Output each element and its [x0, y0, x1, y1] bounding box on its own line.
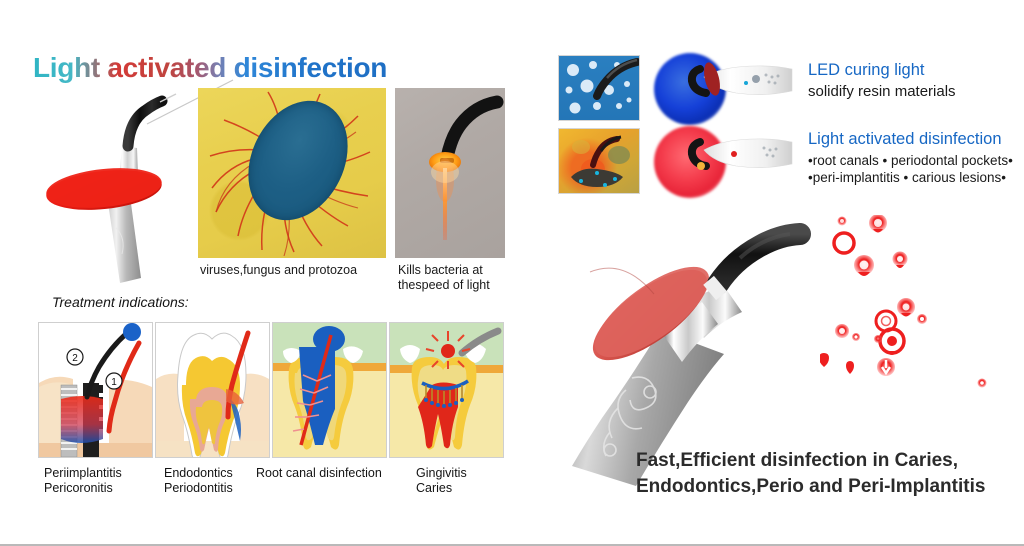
feature-subtitle: solidify resin materials	[808, 83, 956, 100]
label-line-2: Caries	[416, 481, 452, 495]
poster-canvas: Light activated disinfection	[0, 0, 1024, 544]
tagline-line-1: Fast,Efficient disinfection in Caries,	[636, 448, 1024, 474]
label-line-1: Root canal disinfection	[256, 466, 382, 480]
bullet-line-1: •root canals • periodontal pockets•	[808, 152, 1013, 169]
panel-gingivitis	[389, 322, 504, 458]
panel-label-row: Periimplantitis Pericoronitis Endodontic…	[38, 466, 518, 510]
label-line-1: Periimplantitis	[44, 466, 122, 480]
bacteria-microscopy-photo	[198, 88, 386, 258]
right-section: LED curing light solidify resin material…	[520, 0, 1024, 546]
indication-panels: 2 1	[38, 322, 504, 458]
treatment-indications-label: Treatment indications:	[52, 294, 189, 310]
panel-root-canal	[272, 322, 387, 458]
left-section: Light activated disinfection	[0, 0, 520, 546]
panel-periimplantitis: 2 1	[38, 322, 153, 458]
bullet-line-2: •peri-implantitis • carious lesions•	[808, 169, 1013, 186]
feature-title: Light activated disinfection	[808, 130, 1013, 149]
feature-text-block: LED curing light solidify resin material…	[808, 61, 956, 100]
bubbles-thumbnail	[558, 55, 640, 121]
panel-callout-2: 2	[72, 353, 78, 364]
caption-bacteria-photo: viruses,fungus and protozoa	[200, 263, 395, 278]
label-line-2: Pericoronitis	[44, 481, 113, 495]
feature-title: LED curing light	[808, 61, 956, 80]
bacteria-thumbnail	[558, 128, 640, 194]
panel-callout-1: 1	[111, 377, 117, 388]
panel-label-periimplantitis: Periimplantitis Pericoronitis	[44, 466, 156, 496]
label-line-1: Endodontics	[164, 466, 233, 480]
feature-text-block: Light activated disinfection •root canal…	[808, 130, 1013, 186]
feature-bullets: •root canals • periodontal pockets• •per…	[808, 152, 1013, 186]
led-device-blue-glow	[654, 51, 794, 129]
tagline-line-2: Endodontics,Perio and Peri-Implantitis	[636, 474, 1024, 500]
curing-light-device-icon	[38, 78, 198, 283]
caption-tip-photo: Kills bacteria at thespeed of light	[398, 263, 513, 293]
light-probe-photo	[395, 88, 505, 258]
panel-endodontics	[155, 322, 270, 458]
tagline: Fast,Efficient disinfection in Caries, E…	[636, 448, 1024, 500]
label-line-1: Gingivitis	[416, 466, 467, 480]
panel-label-root-canal: Root canal disinfection	[256, 466, 416, 481]
panel-label-gingivitis: Gingivitis Caries	[416, 466, 528, 496]
label-line-2: Periodontitis	[164, 481, 233, 495]
bacteria-particles-group	[820, 215, 1010, 395]
led-device-red-glow	[654, 124, 794, 202]
